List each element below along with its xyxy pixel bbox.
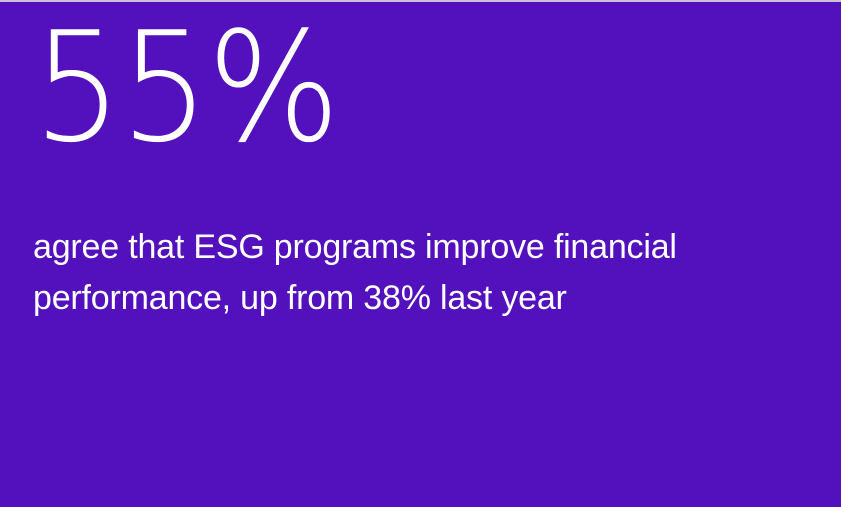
statistic-description: agree that ESG programs improve financia… [33, 222, 793, 324]
stat-content-container: 55% agree that ESG programs improve fina… [33, 0, 841, 507]
description-line-2: performance, up from 38% last year [33, 273, 793, 324]
description-line-1: agree that ESG programs improve financia… [33, 222, 793, 273]
esg-statistic-card: 55% agree that ESG programs improve fina… [0, 0, 841, 507]
headline-percentage: 55% [33, 12, 338, 164]
